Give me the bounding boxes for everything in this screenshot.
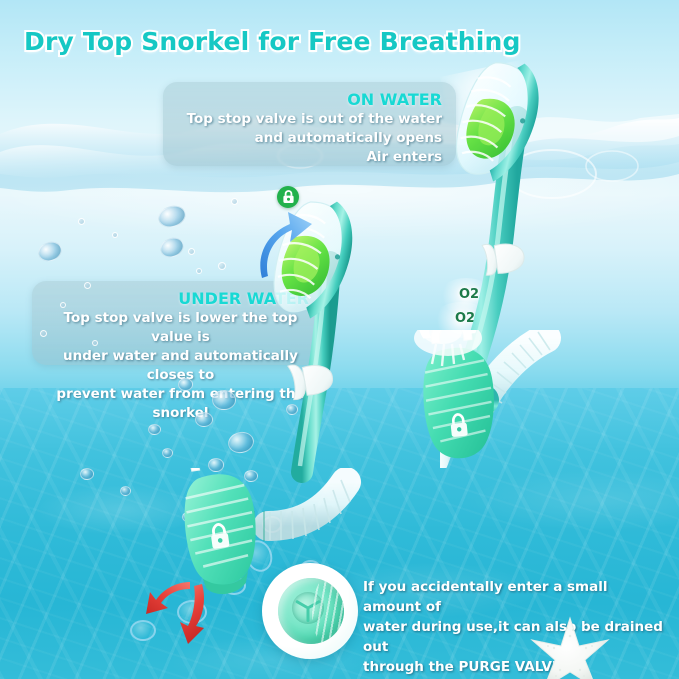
bubble	[84, 282, 91, 289]
purge-valve-hub	[292, 592, 324, 624]
water-drain-arrow-icon	[146, 576, 238, 656]
callout-on-water-line-1: Top stop valve is out of the water	[177, 110, 442, 129]
bubble	[195, 412, 213, 427]
purge-valve-body	[278, 578, 344, 644]
purge-valve-spoke	[295, 600, 309, 610]
callout-on-water: ON WATER Top stop valve is out of the wa…	[163, 82, 456, 166]
lock-icon	[277, 186, 299, 208]
bubble	[188, 248, 195, 255]
purge-valve-closeup-icon	[262, 563, 358, 659]
bubble	[212, 390, 236, 410]
infographic-canvas: Dry Top Snorkel for Free Breathing ON WA…	[0, 0, 679, 679]
curved-up-arrow-icon	[258, 208, 328, 280]
bubble	[178, 378, 193, 391]
callout-on-water-line-2: and automatically opens	[177, 129, 442, 148]
bubble	[92, 340, 98, 346]
callout-on-water-line-3: Air enters	[177, 148, 442, 167]
bubble	[218, 262, 226, 270]
callout-on-water-heading: ON WATER	[177, 90, 442, 110]
bubble	[40, 330, 47, 337]
purge-line-1: If you accidentally enter a small amount…	[363, 577, 663, 617]
bubble	[80, 468, 94, 480]
bubble	[60, 302, 66, 308]
purge-valve-spoke	[307, 608, 310, 622]
purge-valve-spoke	[307, 600, 321, 610]
bubble	[231, 198, 238, 205]
bubble	[196, 268, 202, 274]
bubble	[120, 486, 131, 496]
bubble	[162, 448, 173, 458]
bubble	[148, 424, 161, 435]
starfish-icon	[505, 612, 635, 679]
bubble	[78, 218, 85, 225]
bubble	[112, 232, 118, 238]
